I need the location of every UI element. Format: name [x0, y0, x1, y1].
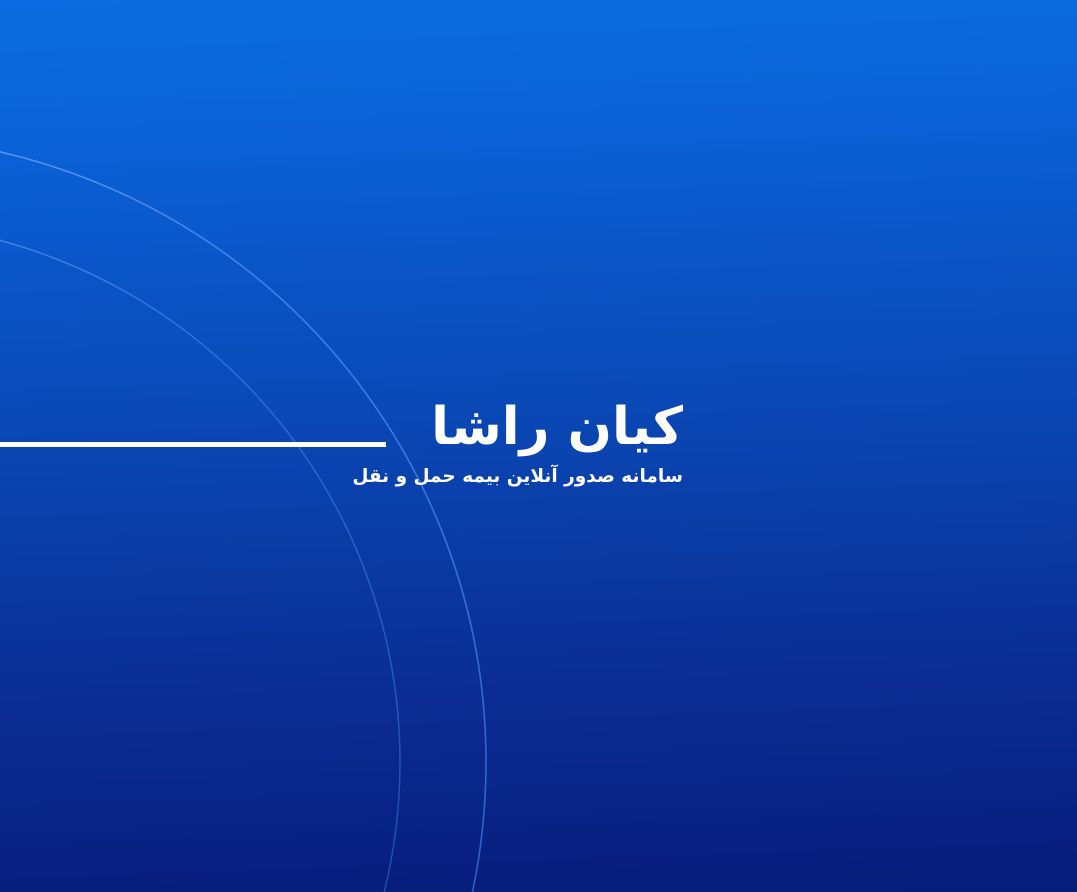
brand-block: کیان راشا سامانه صدور آنلاین بیمه حمل و …: [0, 396, 683, 490]
outer-arc-circle: [0, 136, 486, 892]
splash-screen: کیان راشا سامانه صدور آنلاین بیمه حمل و …: [0, 0, 1077, 892]
page-title: کیان راشا: [0, 396, 683, 458]
inner-arc-circle: [0, 222, 400, 892]
page-subtitle: سامانه صدور آنلاین بیمه حمل و نقل: [0, 458, 683, 490]
